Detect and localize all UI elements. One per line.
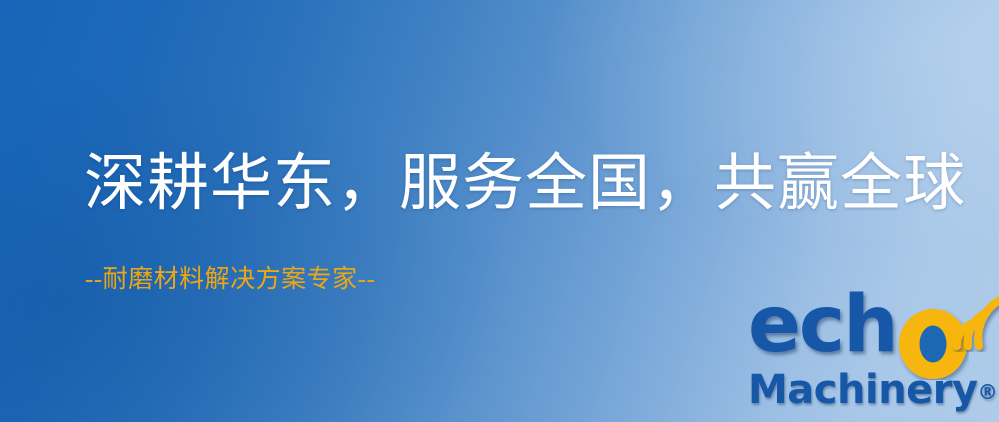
company-logo[interactable]: ech bbox=[748, 296, 999, 422]
logo-signal-waves-icon bbox=[951, 290, 999, 352]
registered-trademark-icon: ® bbox=[978, 380, 998, 404]
promo-banner: 深耕华东，服务全国，共赢全球 --耐磨材料解决方案专家-- ech bbox=[0, 0, 999, 422]
logo-tagline: Machinery® bbox=[748, 370, 998, 410]
banner-subheadline: --耐磨材料解决方案专家-- bbox=[85, 266, 375, 294]
logo-tagline-text: Machinery bbox=[748, 367, 978, 413]
logo-wordmark: ech bbox=[748, 296, 999, 378]
banner-headline: 深耕华东，服务全国，共赢全球 bbox=[84, 152, 966, 217]
logo-brand-text: ech bbox=[748, 286, 897, 364]
